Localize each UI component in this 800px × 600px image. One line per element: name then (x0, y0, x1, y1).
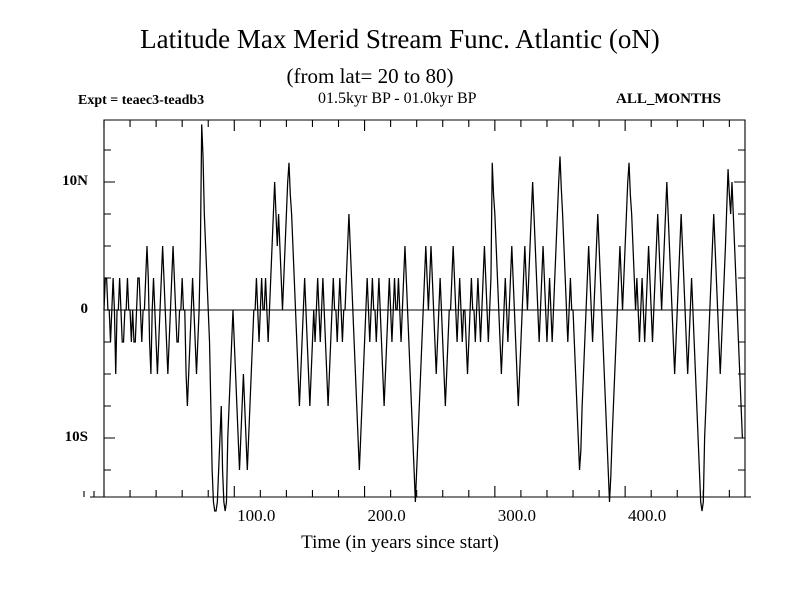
x-tick-label: 100.0 (211, 506, 301, 526)
x-tick-label: 200.0 (342, 506, 432, 526)
x-axis-title: Time (in years since start) (0, 532, 800, 554)
plot-screenshot: Latitude Max Merid Stream Func. Atlantic… (0, 0, 800, 600)
y-tick-label: 10S (32, 429, 88, 446)
x-tick-label: 400.0 (602, 506, 692, 526)
plot-frame (90, 120, 751, 497)
y-tick-label: 0 (32, 301, 88, 318)
y-tick-label: 10N (32, 173, 88, 190)
x-tick-label: 300.0 (472, 506, 562, 526)
data-series-line (104, 124, 742, 511)
